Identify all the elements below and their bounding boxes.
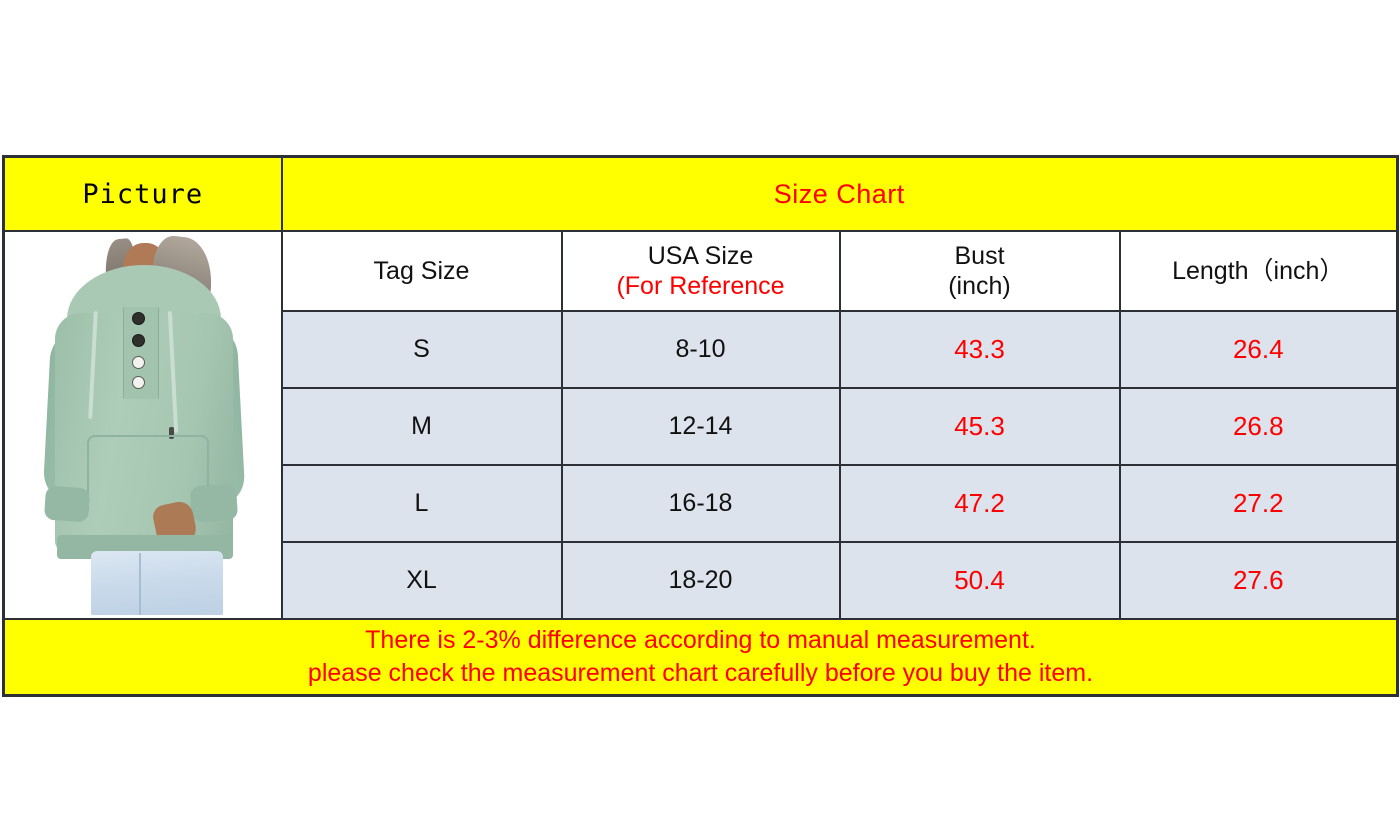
cell-tag-size: XL xyxy=(282,542,562,619)
cell-bust: 47.2 xyxy=(840,465,1120,542)
footer-note-row: There is 2-3% difference according to ma… xyxy=(4,619,1398,696)
cell-usa-size: 16-18 xyxy=(562,465,840,542)
cell-length: 26.4 xyxy=(1120,311,1398,388)
picture-header-cell: Picture xyxy=(4,157,282,232)
size-chart-container: Picture Size Chart xyxy=(2,155,1396,682)
sleeve-cuff-left xyxy=(44,486,90,523)
cell-bust: 45.3 xyxy=(840,388,1120,465)
disclaimer-line-1: There is 2-3% difference according to ma… xyxy=(5,624,1396,657)
product-image-cell xyxy=(4,231,282,619)
header-bust-unit: (inch) xyxy=(841,271,1119,302)
header-length-label: Length（inch） xyxy=(1121,256,1397,287)
cell-tag-size: M xyxy=(282,388,562,465)
cell-usa-size: 18-20 xyxy=(562,542,840,619)
size-chart-title: Size Chart xyxy=(774,179,905,209)
model-jeans xyxy=(91,551,223,615)
hoodie-model-illustration xyxy=(5,235,281,615)
header-usa-size: USA Size (For Reference xyxy=(562,231,840,311)
cell-usa-size: 8-10 xyxy=(562,311,840,388)
placket-button-1 xyxy=(133,313,144,324)
placket-button-3 xyxy=(133,357,144,368)
sleeve-cuff-right xyxy=(190,483,238,522)
banner-row: Picture Size Chart xyxy=(4,157,1398,232)
cell-tag-size: L xyxy=(282,465,562,542)
header-usa-size-label: USA Size xyxy=(563,241,839,272)
cell-length: 27.6 xyxy=(1120,542,1398,619)
cell-length: 27.2 xyxy=(1120,465,1398,542)
header-bust-label: Bust xyxy=(841,241,1119,272)
header-usa-size-note: (For Reference xyxy=(563,271,839,302)
placket-button-4 xyxy=(133,377,144,388)
cell-tag-size: S xyxy=(282,311,562,388)
size-chart-table: Picture Size Chart xyxy=(2,155,1399,697)
disclaimer-line-2: please check the measurement chart caref… xyxy=(5,657,1396,690)
size-chart-title-cell: Size Chart xyxy=(282,157,1398,232)
header-length: Length（inch） xyxy=(1120,231,1398,311)
cell-usa-size: 12-14 xyxy=(562,388,840,465)
picture-label: Picture xyxy=(82,179,203,210)
product-image xyxy=(5,235,281,615)
header-tag-size: Tag Size xyxy=(282,231,562,311)
jeans-seam xyxy=(139,553,141,615)
header-bust: Bust (inch) xyxy=(840,231,1120,311)
header-tag-size-label: Tag Size xyxy=(283,256,561,287)
cell-length: 26.8 xyxy=(1120,388,1398,465)
column-header-row: Tag Size USA Size (For Reference Bust (i… xyxy=(4,231,1398,311)
measurement-disclaimer: There is 2-3% difference according to ma… xyxy=(4,619,1398,696)
cell-bust: 50.4 xyxy=(840,542,1120,619)
placket-button-2 xyxy=(133,335,144,346)
cell-bust: 43.3 xyxy=(840,311,1120,388)
